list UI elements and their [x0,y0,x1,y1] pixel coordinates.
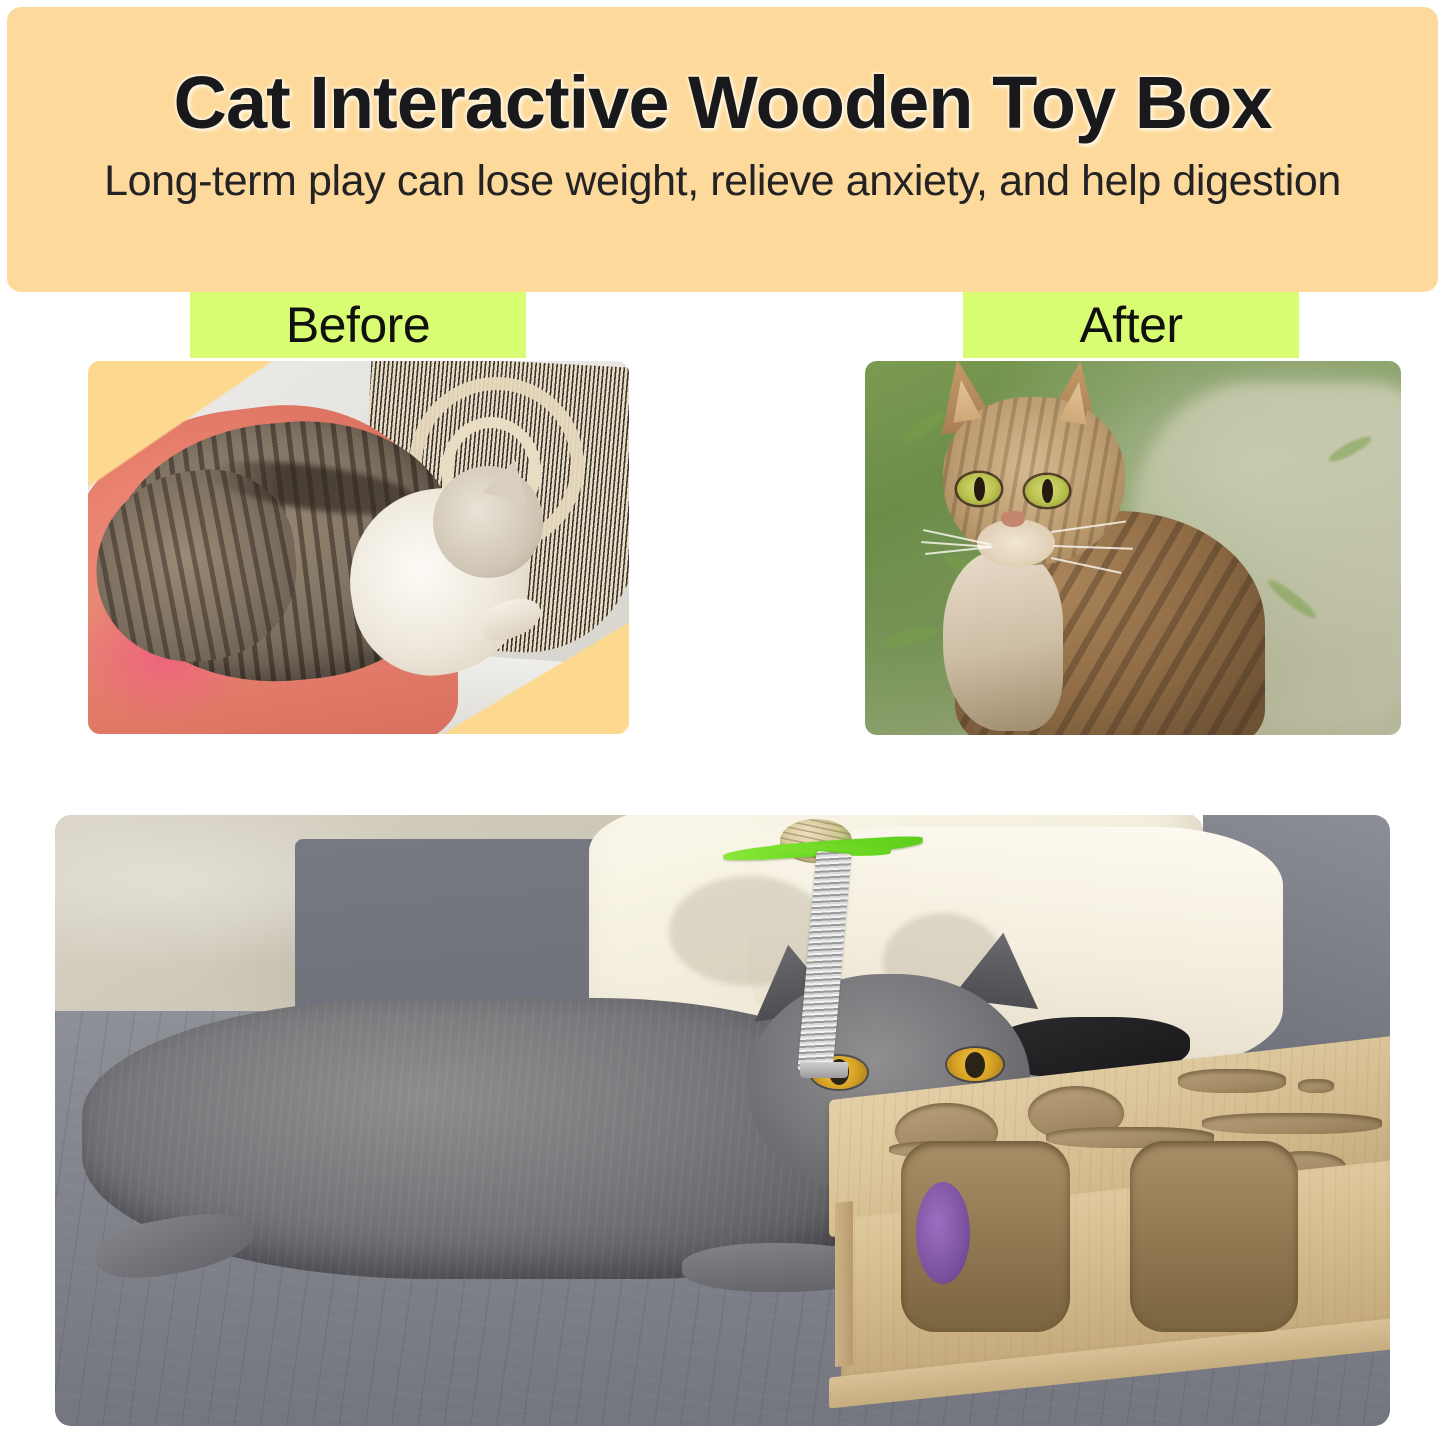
page-subtitle: Long-term play can lose weight, relieve … [104,157,1341,206]
before-label: Before [190,292,526,358]
after-photo-scene [865,361,1401,735]
cat-head [433,466,543,578]
header-banner: Cat Interactive Wooden Toy Box Long-term… [7,7,1438,292]
cat-nose [1001,511,1025,527]
after-photo [865,361,1401,735]
toy-box-hole [1298,1079,1334,1093]
wooden-toy-box [829,1066,1390,1408]
cat-pupil-left [974,477,985,501]
page-title: Cat Interactive Wooden Toy Box [174,63,1272,143]
toy-box-side-leg [835,1201,853,1367]
before-photo-scene [88,361,629,734]
before-corner-top-left [88,361,278,491]
cat-pupil-right [1042,479,1053,503]
before-photo [88,361,629,734]
toy-box-hole [1202,1113,1382,1134]
main-product-photo [55,815,1390,1426]
toy-box-hole [1178,1069,1286,1093]
main-photo-scene [55,815,1390,1426]
after-label: After [963,292,1299,358]
slim-cat-chest [943,551,1063,731]
toy-box-opening-right [1130,1141,1298,1333]
before-corner-bottom-right [429,614,629,734]
